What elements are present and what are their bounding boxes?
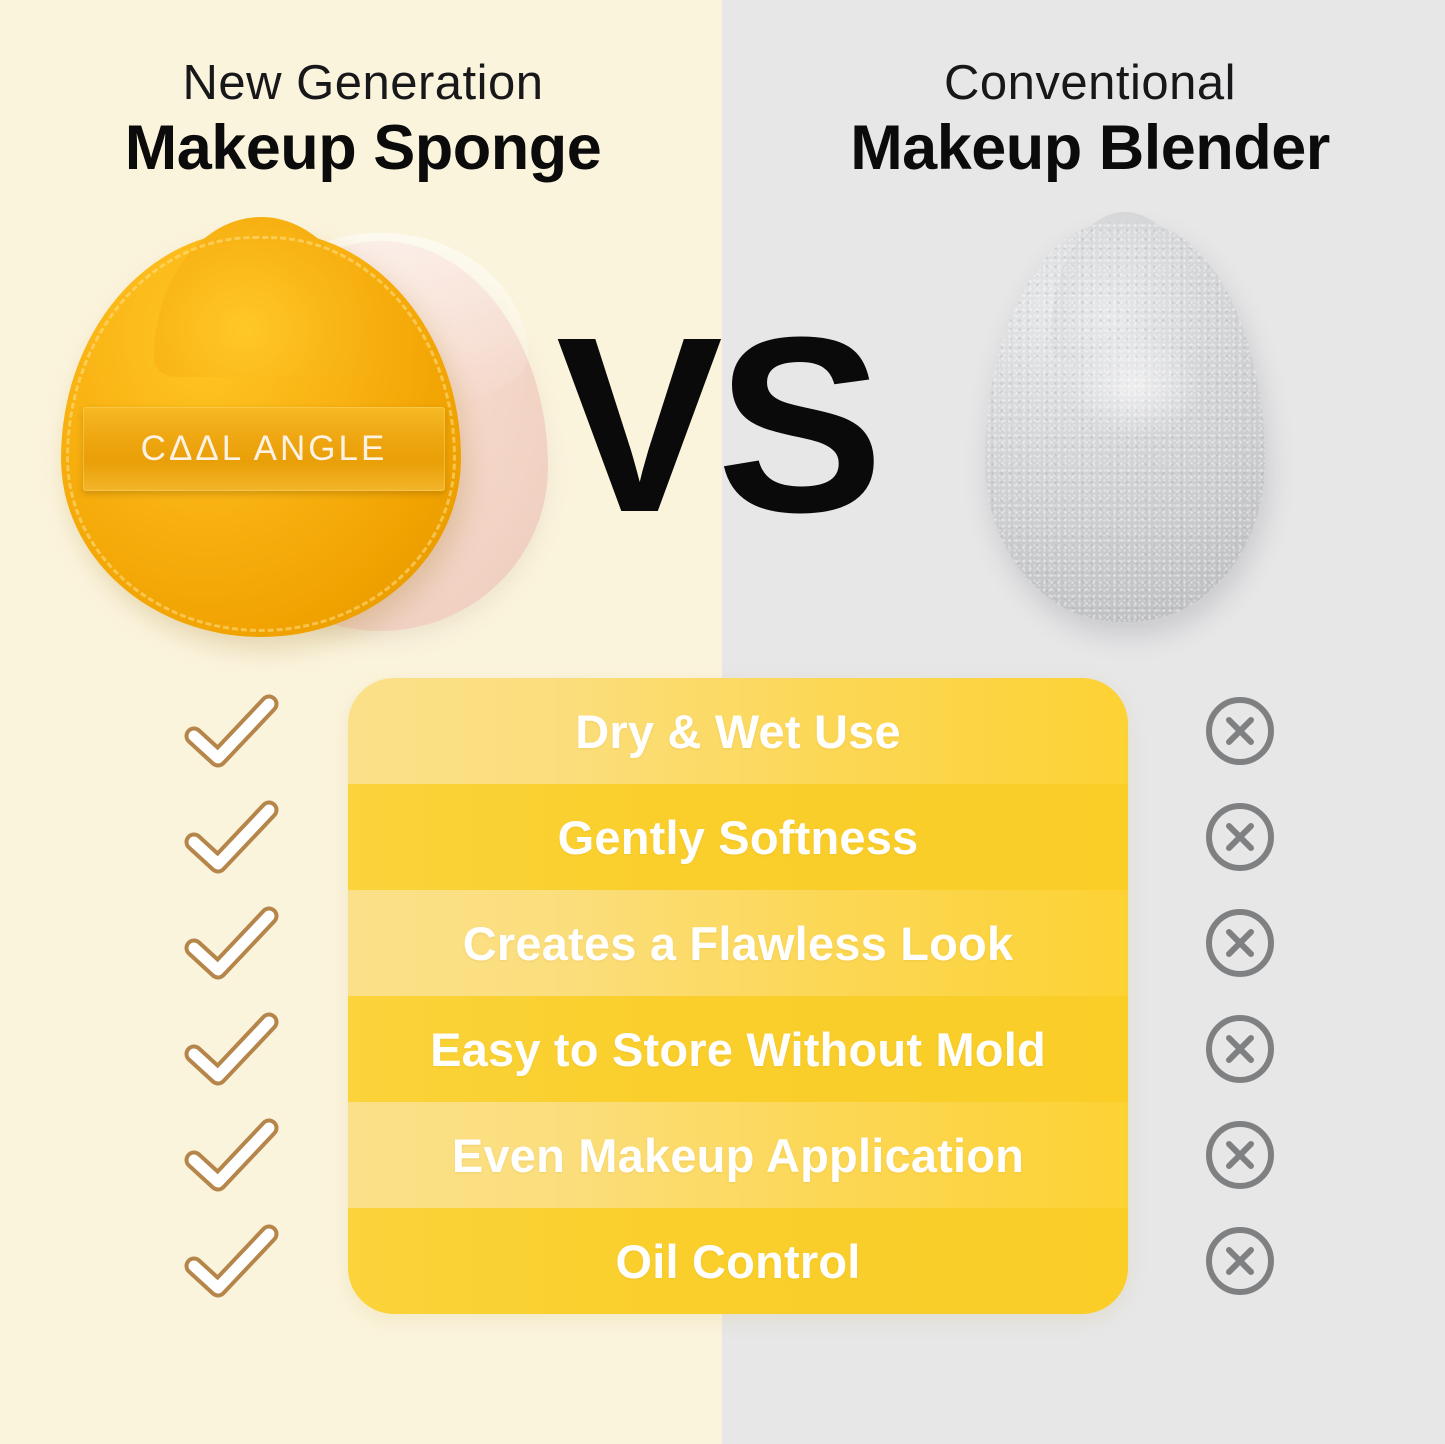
feature-row-label: Even Makeup Application: [452, 1128, 1024, 1183]
comparison-infographic: New Generation Makeup Sponge Conventiona…: [0, 0, 1445, 1444]
versus-label: VS: [556, 300, 876, 550]
blender-highlight: [1069, 334, 1203, 438]
blender-cross-cell: [1180, 1102, 1300, 1208]
check-icon: [184, 1010, 280, 1088]
feature-row: Dry & Wet Use: [348, 678, 1128, 784]
sponge-check-cell: [172, 784, 292, 890]
sponge-check-column: [172, 678, 292, 1314]
sponge-check-cell: [172, 996, 292, 1102]
feature-row-label: Dry & Wet Use: [575, 704, 901, 759]
feature-row-label: Gently Softness: [558, 810, 919, 865]
brand-tag-label: CΔΔL ANGLE: [141, 429, 388, 469]
circle-x-icon: [1203, 1012, 1277, 1086]
check-icon: [184, 798, 280, 876]
feature-comparison-card: Dry & Wet UseGently SoftnessCreates a Fl…: [348, 678, 1128, 1314]
feature-row-label: Easy to Store Without Mold: [430, 1022, 1046, 1077]
blender-cross-cell: [1180, 996, 1300, 1102]
left-title-text: Makeup Sponge: [30, 114, 696, 183]
check-icon: [184, 1116, 280, 1194]
sponge-check-cell: [172, 678, 292, 784]
makeup-blender-product-image: [975, 222, 1275, 632]
right-title-text: Makeup Blender: [760, 114, 1420, 183]
circle-x-icon: [1203, 694, 1277, 768]
blender-cross-cell: [1180, 678, 1300, 784]
circle-x-icon: [1203, 1118, 1277, 1192]
check-icon: [184, 904, 280, 982]
makeup-sponge-product-image: CΔΔL ANGLE: [45, 225, 565, 645]
blender-cross-column: [1180, 678, 1300, 1314]
right-heading-block: Conventional Makeup Blender: [760, 58, 1420, 183]
blender-cross-cell: [1180, 890, 1300, 996]
feature-row-label: Oil Control: [615, 1234, 860, 1289]
circle-x-icon: [1203, 906, 1277, 980]
feature-row-label: Creates a Flawless Look: [463, 916, 1014, 971]
sponge-check-cell: [172, 1208, 292, 1314]
sponge-check-cell: [172, 1102, 292, 1208]
gray-blender-icon: [985, 222, 1265, 622]
feature-row: Creates a Flawless Look: [348, 890, 1128, 996]
blender-cross-cell: [1180, 784, 1300, 890]
feature-row: Oil Control: [348, 1208, 1128, 1314]
circle-x-icon: [1203, 800, 1277, 874]
feature-row: Gently Softness: [348, 784, 1128, 890]
right-eyebrow-text: Conventional: [760, 58, 1420, 110]
sponge-check-cell: [172, 890, 292, 996]
brand-tag-strap: CΔΔL ANGLE: [83, 407, 445, 491]
blender-cross-cell: [1180, 1208, 1300, 1314]
feature-row: Even Makeup Application: [348, 1102, 1128, 1208]
circle-x-icon: [1203, 1224, 1277, 1298]
check-icon: [184, 692, 280, 770]
left-eyebrow-text: New Generation: [30, 58, 696, 110]
left-heading-block: New Generation Makeup Sponge: [30, 58, 696, 183]
feature-row: Easy to Store Without Mold: [348, 996, 1128, 1102]
check-icon: [184, 1222, 280, 1300]
